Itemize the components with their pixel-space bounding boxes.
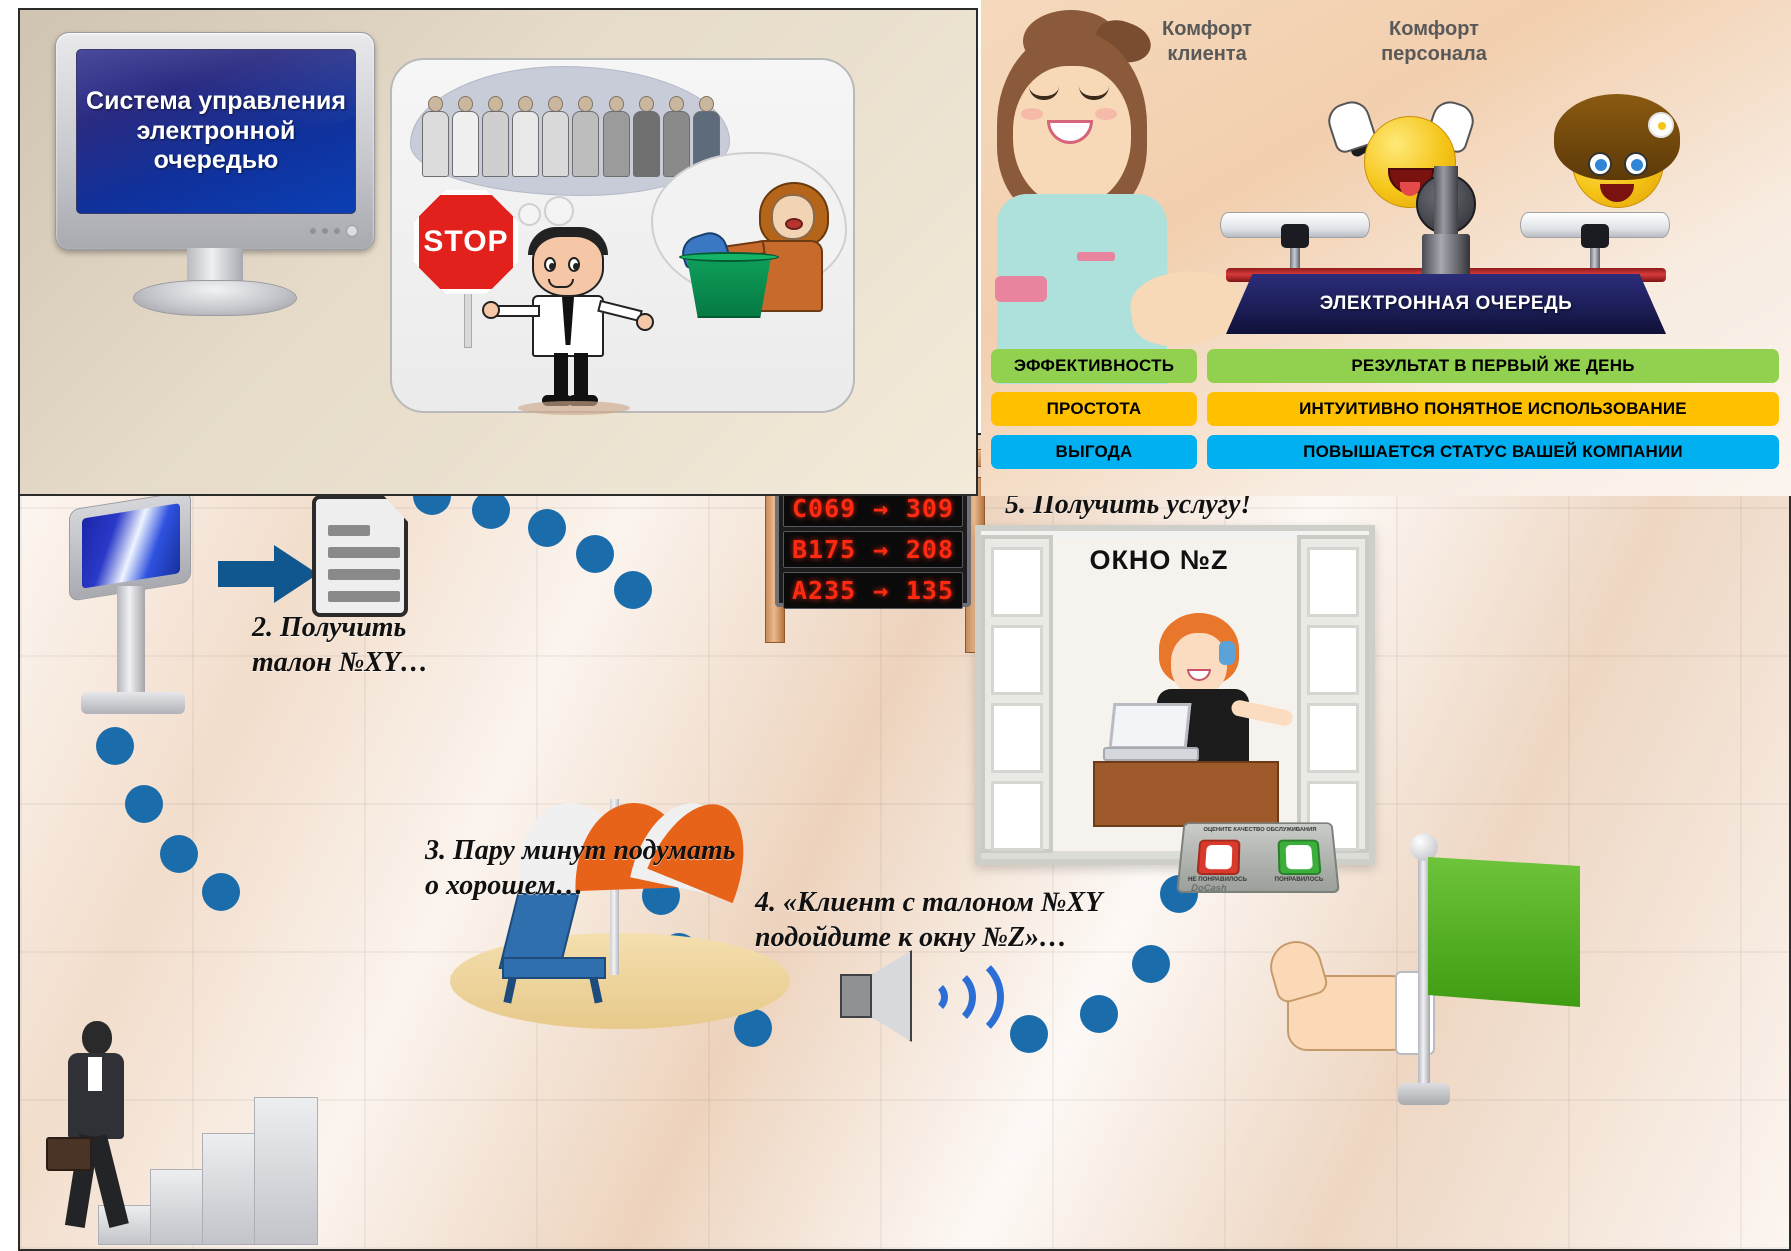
scale-title-label: ЭЛЕКТРОННАЯ ОЧЕРЕДЬ [1320,293,1573,316]
staff-figure [991,14,1221,384]
stop-sign-label: STOP [423,225,508,259]
step-3-label: 3. Пару минут подумать о хорошем… [425,833,755,903]
title-panel: Система управления электронной очередью [18,8,978,496]
board-arrow: → [873,576,889,605]
board-window-number: 135 [906,576,954,605]
board-client-code: B175 [792,535,856,564]
stop-sign-icon: STOP [414,190,522,340]
infographic-canvas: 1. Выбрать услугу… 2. Получить талон №XY… [0,0,1791,1251]
benefit-key: ПРОСТОТА [991,392,1197,426]
happy-staff-smiley-icon [1556,96,1676,218]
device-brand-label: DoCash [1191,883,1227,893]
board-client-code: A235 [792,576,856,605]
balance-scale-graphic: ЭЛЕКТРОННАЯ ОЧЕРЕДЬ [1216,70,1686,330]
benefits-list: ЭФФЕКТИВНОСТЬ РЕЗУЛЬТАТ В ПЕРВЫЙ ЖЕ ДЕНЬ… [981,349,1791,478]
benefit-value: ИНТУИТИВНО ПОНЯТНОЕ ИСПОЛЬЗОВАНИЕ [1207,392,1779,426]
comfort-client-label: Комфорт клиента [1132,17,1282,67]
benefits-panel: Комфорт клиента Комфорт персонала [981,0,1791,496]
process-flow-panel: 1. Выбрать услугу… 2. Получить талон №XY… [18,433,1791,1251]
step-4-label: 4. «Клиент с талоном №XY подойдите к окн… [755,885,1125,955]
board-window-number: 208 [906,535,954,564]
self-service-kiosk-icon [65,500,205,720]
manager-figure [510,235,640,410]
monitor-indicator-dots [310,225,358,237]
benefit-row: ВЫГОДА ПОВЫШАЕТСЯ СТАТУС ВАШЕЙ КОМПАНИИ [981,435,1791,469]
board-arrow: → [873,535,889,564]
businessman-figure [46,1021,156,1241]
thought-bubble-large [544,196,574,226]
loudspeaker-icon [840,950,1010,1060]
benefit-row: ЭФФЕКТИВНОСТЬ РЕЗУЛЬТАТ В ПЕРВЫЙ ЖЕ ДЕНЬ [981,349,1791,383]
service-window-graphic: ОКНО №Z [975,525,1375,865]
rating-positive-button[interactable] [1278,840,1322,875]
page-title: Система управления электронной очередью [77,87,355,176]
queue-crowd-figures [420,80,720,180]
problem-illustration: STOP [390,58,855,413]
comfort-staff-label: Комфорт персонала [1359,17,1509,67]
window-number-label: ОКНО №Z [1059,545,1259,576]
board-client-code: C069 [792,494,856,523]
board-arrow: → [873,494,889,523]
rating-positive-label: ПОНРАВИЛОСЬ [1274,877,1323,883]
benefit-key: ЭФФЕКТИВНОСТЬ [991,349,1197,383]
benefit-value: РЕЗУЛЬТАТ В ПЕРВЫЙ ЖЕ ДЕНЬ [1207,349,1779,383]
ticket-document-icon [312,495,408,617]
board-row: A235 → 135 [783,572,963,609]
arrow-right-icon [218,545,318,603]
angry-client-figure [681,182,831,312]
monitor-graphic: Система управления электронной очередью [55,32,375,282]
green-flag-icon [1400,847,1590,1107]
board-row: B175 → 208 [783,531,963,568]
rating-negative-button[interactable] [1196,840,1240,875]
service-rating-device[interactable]: ОЦЕНИТЕ КАЧЕСТВО ОБСЛУЖИВАНИЯ НЕ ПОНРАВИ… [1176,822,1340,893]
benefit-key: ВЫГОДА [991,435,1197,469]
rating-caption: ОЦЕНИТЕ КАЧЕСТВО ОБСЛУЖИВАНИЯ [1192,827,1328,836]
step-2-label: 2. Получить талон №XY… [252,610,472,680]
board-window-number: 309 [906,494,954,523]
benefit-row: ПРОСТОТА ИНТУИТИВНО ПОНЯТНОЕ ИСПОЛЬЗОВАН… [981,392,1791,426]
benefit-value: ПОВЫШАЕТСЯ СТАТУС ВАШЕЙ КОМПАНИИ [1207,435,1779,469]
